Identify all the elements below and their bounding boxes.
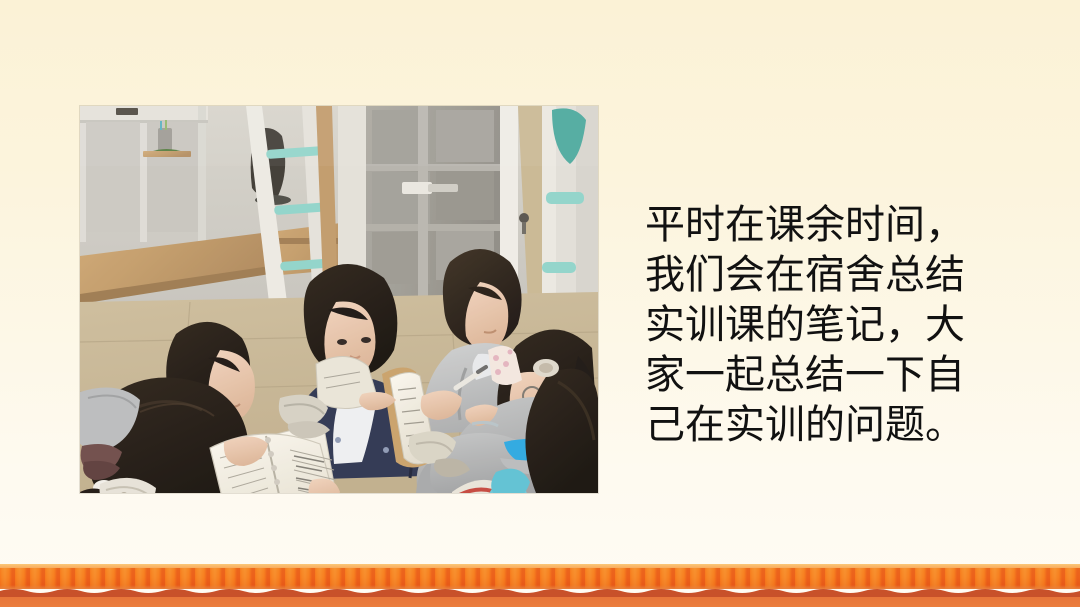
decorative-bottom-border (0, 564, 1080, 607)
caption-text: 平时在课余时间， 我们会在宿舍总结 实训课的笔记，大 家一起总结一下自 己在实训… (645, 200, 1045, 450)
dormitory-study-photo (80, 106, 598, 493)
slide-canvas: 平时在课余时间， 我们会在宿舍总结 实训课的笔记，大 家一起总结一下自 己在实训… (0, 0, 1080, 607)
photo-illustration (80, 106, 598, 493)
border-bar-pattern (0, 564, 1080, 589)
border-base-band (0, 597, 1080, 607)
caption-block: 平时在课余时间， 我们会在宿舍总结 实训课的笔记，大 家一起总结一下自 己在实训… (645, 200, 1045, 450)
